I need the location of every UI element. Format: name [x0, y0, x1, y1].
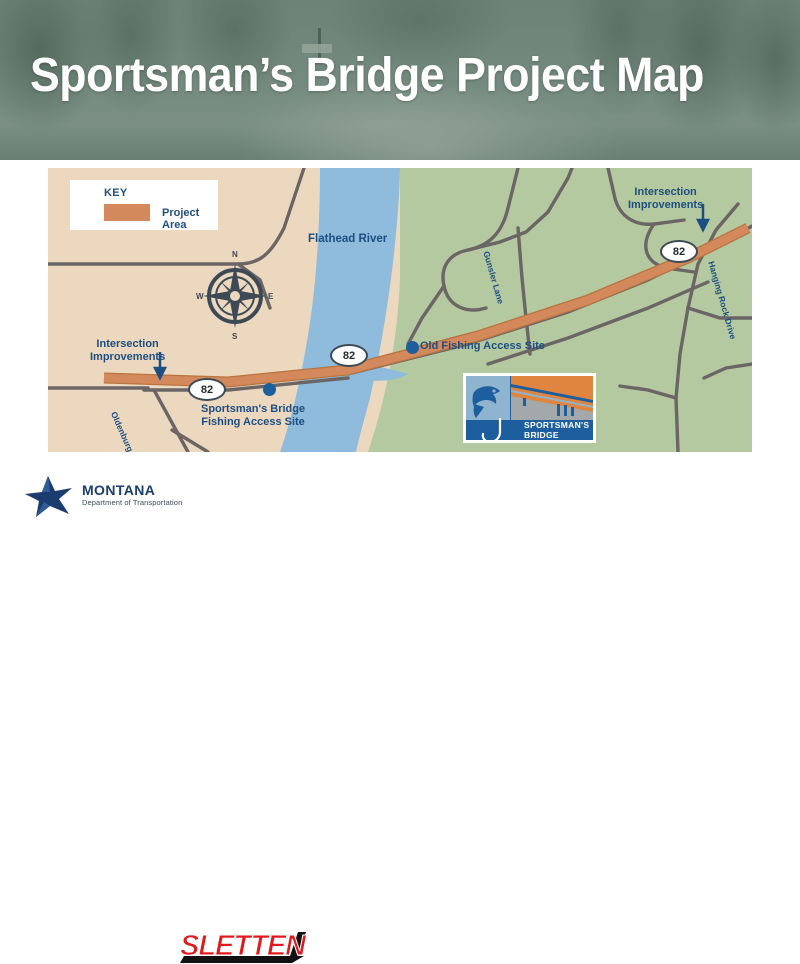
label-spb-fas-line1: Sportsman's Bridge: [201, 403, 305, 416]
label-flathead-river: Flathead River: [308, 233, 387, 246]
highway-shield-82-center: 82: [330, 344, 368, 367]
key-title: KEY: [104, 187, 128, 199]
montana-dot-logo: MONTANA Department of Transportation: [22, 474, 192, 516]
marker-old-fishing-access: [406, 341, 419, 354]
montana-star-icon: [22, 474, 76, 518]
montana-dot-subtitle: Department of Transportation: [82, 498, 182, 507]
label-intersection-left-line2: Improvements: [90, 351, 165, 364]
footer: MONTANA Department of Transportation SLE…: [0, 452, 800, 541]
header-banner: Sportsman’s Bridge Project Map: [0, 0, 800, 160]
logo-badge-line2: BRIDGE: [524, 430, 589, 440]
compass-south-label: S: [232, 332, 237, 341]
compass-west-label: W: [196, 292, 204, 301]
logo-badge-line1: SPORTSMAN'S: [524, 420, 589, 430]
sportsmans-bridge-logo-badge: SPORTSMAN'S BRIDGE: [463, 373, 596, 443]
sletten-wordmark: SLETTEN: [180, 930, 305, 963]
label-intersection-improvements-left: Intersection Improvements: [90, 338, 165, 363]
highway-shield-82-west: 82: [188, 378, 226, 401]
page-title: Sportsman’s Bridge Project Map: [30, 50, 718, 102]
compass-labels: N E S W: [196, 250, 274, 340]
map-key: KEY Project Area: [70, 180, 218, 230]
key-swatch-project-area: [104, 204, 150, 221]
label-old-fishing-access-site: Old Fishing Access Site: [420, 340, 545, 353]
fish-icon: [466, 376, 510, 420]
highway-shield-82-east: 82: [660, 240, 698, 263]
label-intersection-left-line1: Intersection: [90, 338, 165, 351]
key-label-project-area: Project Area: [162, 207, 218, 231]
label-sportsmans-bridge-fishing-access-site: Sportsman's Bridge Fishing Access Site: [201, 403, 305, 428]
compass-east-label: E: [268, 292, 273, 301]
marker-sportsmans-bridge-fishing-access: [263, 383, 276, 396]
bridge-icon: [511, 376, 593, 420]
compass-north-label: N: [232, 250, 238, 259]
sletten-logo: SLETTEN: [180, 930, 310, 964]
logo-fish-panel: [466, 376, 510, 420]
logo-badge-text: SPORTSMAN'S BRIDGE: [524, 420, 589, 440]
label-spb-fas-line2: Fishing Access Site: [201, 416, 305, 429]
label-intersection-right-line2: Improvements: [628, 199, 703, 212]
logo-bridge-panel: [511, 376, 593, 420]
label-intersection-improvements-right: Intersection Improvements: [628, 186, 703, 211]
montana-dot-name: MONTANA: [82, 482, 155, 498]
project-map: KEY Project Area N E S W Flathead River …: [48, 168, 752, 452]
label-intersection-right-line1: Intersection: [628, 186, 703, 199]
fish-hook-icon: [478, 418, 518, 440]
